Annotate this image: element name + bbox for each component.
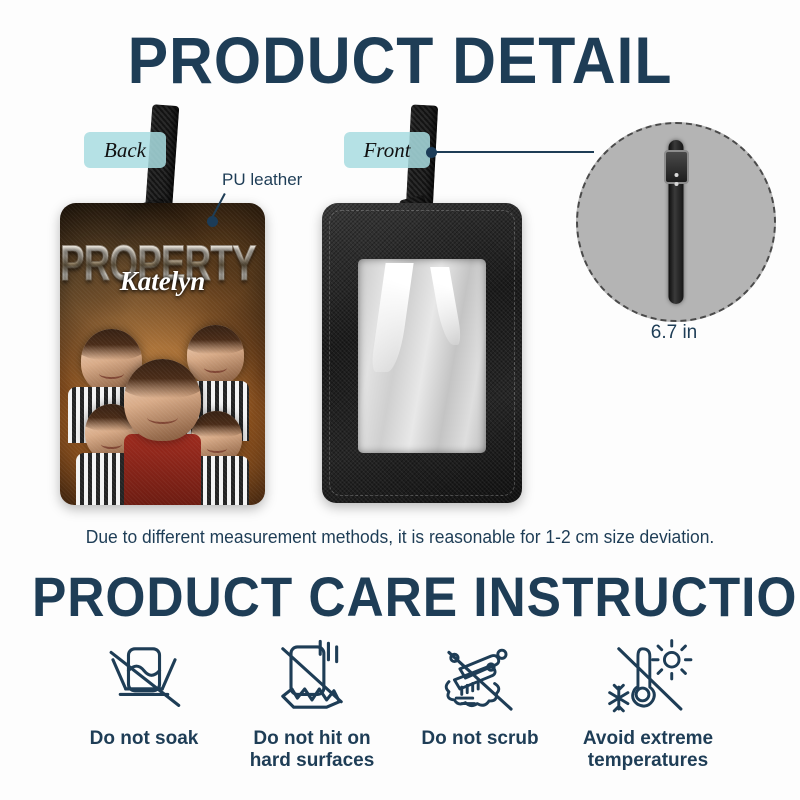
product-detail-infographic: PRODUCT DETAIL PROPERTY OF Katelyn	[0, 0, 800, 800]
care-label-line2: temperatures	[588, 750, 708, 771]
strap-hole	[674, 182, 678, 186]
buckle-icon	[664, 150, 689, 184]
strap-anchor-dot	[426, 147, 437, 158]
back-label-badge: Back	[84, 132, 166, 168]
no-soak-icon	[98, 636, 190, 720]
pu-leather-label: PU leather	[222, 170, 302, 190]
care-item-no-scrub: Do not scrub	[390, 636, 570, 750]
care-label: Do not scrub	[421, 728, 538, 750]
size-deviation-disclaimer: Due to different measurement methods, it…	[12, 527, 788, 548]
id-card-window	[358, 259, 486, 453]
care-item-no-soak: Do not soak	[54, 636, 234, 750]
collage-face-main	[124, 359, 202, 441]
leather-strap-icon	[669, 140, 684, 305]
care-label: Do not hit on hard surfaces	[250, 728, 375, 772]
care-item-no-extreme-temperature: Avoid extreme temperatures	[558, 636, 738, 772]
care-label-line1: Avoid extreme	[583, 728, 713, 749]
care-label-line1: Do not hit on	[253, 728, 370, 749]
back-label-text: Back	[104, 138, 146, 163]
care-label: Avoid extreme temperatures	[583, 728, 713, 772]
pu-leather-anchor-dot	[207, 216, 218, 227]
strap-leader-line	[432, 151, 594, 153]
care-item-no-impact: Do not hit on hard surfaces	[222, 636, 402, 772]
care-label-line2: hard surfaces	[250, 750, 375, 771]
strap-detail-inset	[576, 122, 776, 322]
back-tag-body: PROPERTY OF Katelyn	[60, 203, 265, 505]
front-tag-body	[322, 203, 522, 503]
collage-torso	[124, 434, 202, 505]
page-title: PRODUCT DETAIL	[32, 24, 768, 96]
strap-length-caption: 6.7 in	[576, 322, 772, 344]
no-scrub-icon	[434, 636, 526, 720]
no-impact-icon	[266, 636, 358, 720]
no-extreme-temperature-icon	[602, 636, 694, 720]
strap-hole	[674, 173, 678, 177]
back-tag-custom-name: Katelyn	[60, 266, 265, 297]
care-section-title: PRODUCT CARE INSTRUCTIONS	[32, 566, 768, 628]
front-label-badge: Front	[344, 132, 430, 168]
front-label-text: Front	[363, 138, 410, 163]
care-label: Do not soak	[90, 728, 199, 750]
photo-collage	[60, 318, 265, 505]
care-instructions-row: Do not soak Do not hit on hard surfaces	[0, 636, 800, 786]
